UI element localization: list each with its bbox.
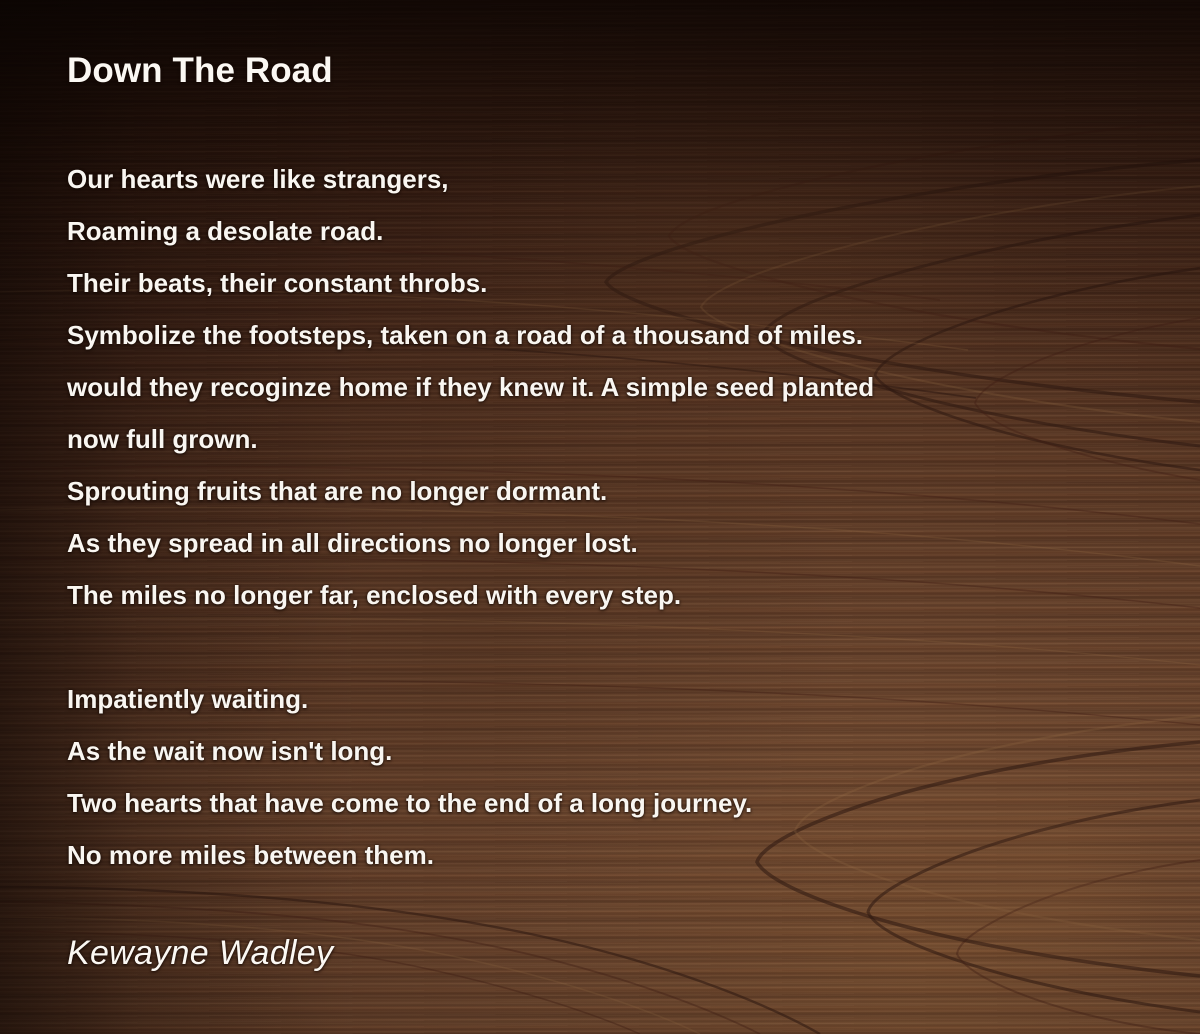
- poem-title: Down The Road: [67, 52, 1140, 91]
- poem-line: Two hearts that have come to the end of …: [67, 777, 1140, 829]
- poem-line: No more miles between them.: [67, 829, 1140, 881]
- poem-stanza-2: Impatiently waiting. As the wait now isn…: [67, 673, 1140, 881]
- poem-line: As they spread in all directions no long…: [67, 517, 1140, 569]
- poem-image-card: Down The Road Our hearts were like stran…: [0, 0, 1200, 1034]
- poem-stanza-1: Our hearts were like strangers, Roaming …: [67, 153, 1140, 621]
- poem-line: As the wait now isn't long.: [67, 725, 1140, 777]
- poem-line: Roaming a desolate road.: [67, 205, 1140, 257]
- poem-line: The miles no longer far, enclosed with e…: [67, 569, 1140, 621]
- poem-author-signature: Kewayne Wadley: [67, 933, 1140, 974]
- poem-line: Symbolize the footsteps, taken on a road…: [67, 309, 1140, 361]
- poem-line: Sprouting fruits that are no longer dorm…: [67, 465, 1140, 517]
- poem-line: Their beats, their constant throbs.: [67, 257, 1140, 309]
- poem-line: would they recoginze home if they knew i…: [67, 361, 1140, 413]
- poem-content: Down The Road Our hearts were like stran…: [0, 0, 1200, 1034]
- poem-line: Our hearts were like strangers,: [67, 153, 1140, 205]
- poem-line: now full grown.: [67, 413, 1140, 465]
- poem-line: Impatiently waiting.: [67, 673, 1140, 725]
